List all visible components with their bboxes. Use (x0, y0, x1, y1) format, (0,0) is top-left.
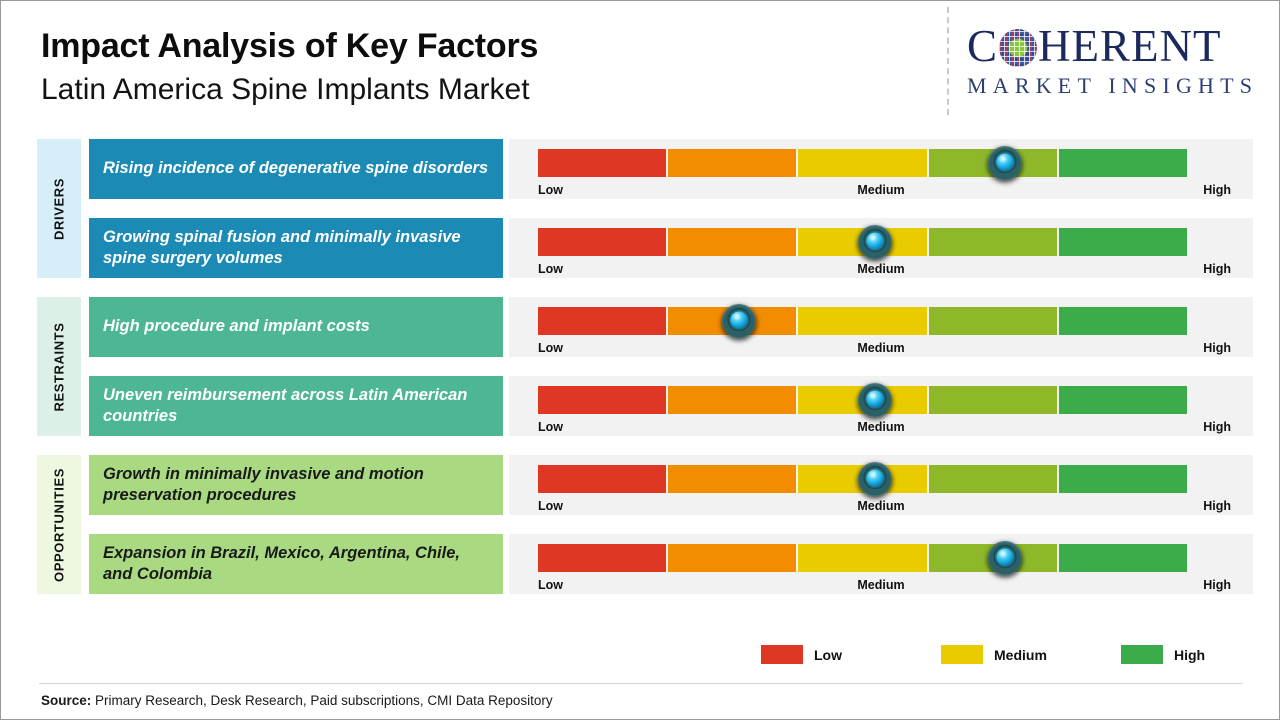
marker-core (867, 232, 884, 249)
category-band-drivers: DRIVERS (37, 139, 81, 278)
legend-swatch (761, 645, 803, 664)
scale-label-medium: Medium (509, 578, 1253, 592)
gauge-segment-3 (798, 544, 926, 572)
scale-label-high: High (1203, 420, 1231, 434)
gauge-segment-5 (1059, 149, 1187, 177)
marker-core (731, 311, 748, 328)
impact-gauge-row: LowMediumHigh (509, 376, 1253, 436)
gauge-segment-5 (1059, 307, 1187, 335)
legend-label: Medium (994, 647, 1047, 663)
gauge-segment-3 (798, 149, 926, 177)
impact-gauge-row: LowMediumHigh (509, 297, 1253, 357)
gauge-segment-2 (668, 386, 796, 414)
header-dashed-divider (947, 7, 949, 115)
factor-text: Uneven reimbursement across Latin Americ… (103, 385, 489, 427)
gauge-segment-5 (1059, 386, 1187, 414)
scale-label-medium: Medium (509, 262, 1253, 276)
marker-core (867, 469, 884, 486)
gauge-segment-4 (929, 307, 1057, 335)
legend: LowMediumHigh (761, 645, 1221, 671)
scale-label-high: High (1203, 499, 1231, 513)
scale-label-medium: Medium (509, 183, 1253, 197)
gauge-bar (538, 149, 1187, 177)
scale-label-high: High (1203, 262, 1231, 276)
impact-gauge-row: LowMediumHigh (509, 139, 1253, 199)
scale-label-medium: Medium (509, 420, 1253, 434)
scale-label-medium: Medium (509, 341, 1253, 355)
impact-gauge-row: LowMediumHigh (509, 534, 1253, 594)
page-subtitle: Latin America Spine Implants Market (41, 72, 538, 108)
impact-marker[interactable] (722, 304, 756, 338)
factor-text: Growing spinal fusion and minimally inva… (103, 227, 489, 269)
logo-letters-herent: HERENT (1038, 24, 1221, 69)
source-text: Primary Research, Desk Research, Paid su… (91, 693, 552, 708)
gauge-segment-1 (538, 228, 666, 256)
impact-analysis-infographic: Impact Analysis of Key Factors Latin Ame… (0, 0, 1280, 720)
gauge-bar (538, 544, 1187, 572)
gauge-segment-2 (668, 465, 796, 493)
factor-box: Uneven reimbursement across Latin Americ… (89, 376, 503, 436)
legend-swatch (1121, 645, 1163, 664)
impact-gauge-row: LowMediumHigh (509, 218, 1253, 278)
footer-divider (39, 683, 1243, 684)
factor-text: Expansion in Brazil, Mexico, Argentina, … (103, 543, 489, 585)
legend-label: Low (814, 647, 842, 663)
scale-label-medium: Medium (509, 499, 1253, 513)
marker-core (867, 390, 884, 407)
legend-item: High (1121, 645, 1205, 664)
logo-wordmark: C HERENT (967, 21, 1267, 71)
source-label: Source: (41, 693, 91, 708)
factor-text: Rising incidence of degenerative spine d… (103, 158, 488, 179)
factor-box: Growth in minimally invasive and motion … (89, 455, 503, 515)
gauge-segment-5 (1059, 544, 1187, 572)
factor-box: High procedure and implant costs (89, 297, 503, 357)
gauge-segment-1 (538, 386, 666, 414)
gauge-segment-1 (538, 544, 666, 572)
company-logo: C HERENT MARKET INSIGHTS (967, 21, 1267, 105)
factor-text: High procedure and implant costs (103, 316, 370, 337)
gauge-segment-2 (668, 228, 796, 256)
gauge-segment-1 (538, 465, 666, 493)
marker-core (997, 153, 1014, 170)
legend-swatch (941, 645, 983, 664)
gauge-segment-1 (538, 149, 666, 177)
category-band-restraints: RESTRAINTS (37, 297, 81, 436)
globe-icon (999, 29, 1037, 67)
gauge-segment-2 (668, 149, 796, 177)
gauge-segment-4 (929, 386, 1057, 414)
factor-box: Expansion in Brazil, Mexico, Argentina, … (89, 534, 503, 594)
header: Impact Analysis of Key Factors Latin Ame… (1, 1, 1280, 131)
factor-box: Growing spinal fusion and minimally inva… (89, 218, 503, 278)
scale-label-high: High (1203, 341, 1231, 355)
category-label: RESTRAINTS (52, 322, 67, 411)
page-title: Impact Analysis of Key Factors (41, 27, 538, 66)
gauge-segment-2 (668, 544, 796, 572)
scale-label-high: High (1203, 183, 1231, 197)
gauge-segment-5 (1059, 228, 1187, 256)
legend-label: High (1174, 647, 1205, 663)
gauge-segment-3 (798, 307, 926, 335)
gauge-segment-5 (1059, 465, 1187, 493)
title-block: Impact Analysis of Key Factors Latin Ame… (41, 27, 538, 108)
category-band-opportunities: OPPORTUNITIES (37, 455, 81, 594)
gauge-segment-1 (538, 307, 666, 335)
legend-item: Low (761, 645, 842, 664)
logo-tagline: MARKET INSIGHTS (967, 73, 1267, 99)
source-note: Source: Primary Research, Desk Research,… (41, 693, 553, 708)
factor-text: Growth in minimally invasive and motion … (103, 464, 489, 506)
gauge-segment-4 (929, 228, 1057, 256)
impact-gauge-row: LowMediumHigh (509, 455, 1253, 515)
scale-label-high: High (1203, 578, 1231, 592)
factors-board: DRIVERSRESTRAINTSOPPORTUNITIESRising inc… (1, 139, 1280, 619)
gauge-segment-4 (929, 465, 1057, 493)
legend-item: Medium (941, 645, 1047, 664)
marker-core (997, 548, 1014, 565)
category-label: OPPORTUNITIES (52, 468, 67, 582)
gauge-bar (538, 307, 1187, 335)
logo-letter-c: C (967, 24, 998, 69)
factor-box: Rising incidence of degenerative spine d… (89, 139, 503, 199)
category-label: DRIVERS (52, 178, 67, 240)
